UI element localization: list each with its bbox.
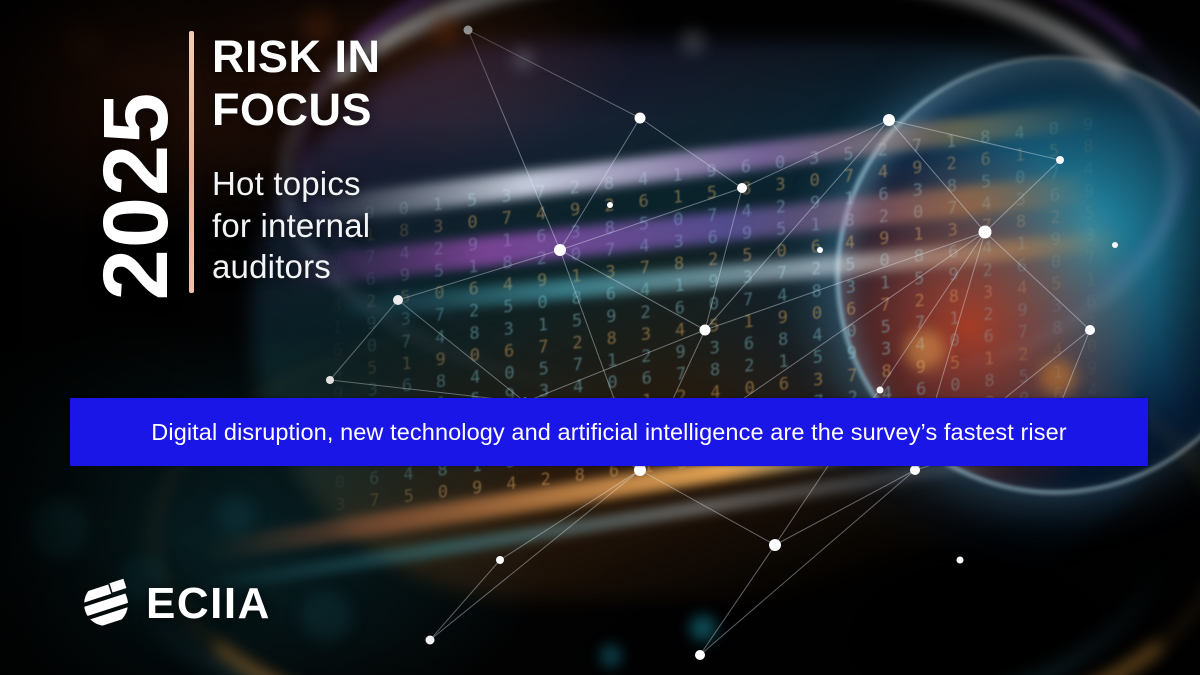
headline-line-2: FOCUS xyxy=(212,83,542,136)
page-title: RISK IN FOCUS xyxy=(212,30,542,136)
slide-content: 2025 RISK IN FOCUS Hot topics for intern… xyxy=(0,0,1200,675)
vertical-divider xyxy=(189,31,194,293)
subtitle-line-2: for internal xyxy=(212,205,542,247)
risk-in-focus-slide: 2 9 0 1 5 3 7 2 8 4 1 9 6 0 3 5 2 7 1 8 … xyxy=(0,0,1200,675)
page-subtitle: Hot topics for internal auditors xyxy=(212,163,542,288)
subtitle-line-1: Hot topics xyxy=(212,163,542,205)
year-label: 2025 xyxy=(90,46,182,346)
eciia-logo: ECIIA xyxy=(80,578,271,630)
eciia-wordmark: ECIIA xyxy=(146,582,271,626)
eciia-globe-icon xyxy=(80,578,132,630)
subtitle-line-3: auditors xyxy=(212,246,542,288)
callout-text: Digital disruption, new technology and a… xyxy=(151,419,1066,446)
callout-banner: Digital disruption, new technology and a… xyxy=(70,398,1148,466)
headline-line-1: RISK IN xyxy=(212,31,381,82)
